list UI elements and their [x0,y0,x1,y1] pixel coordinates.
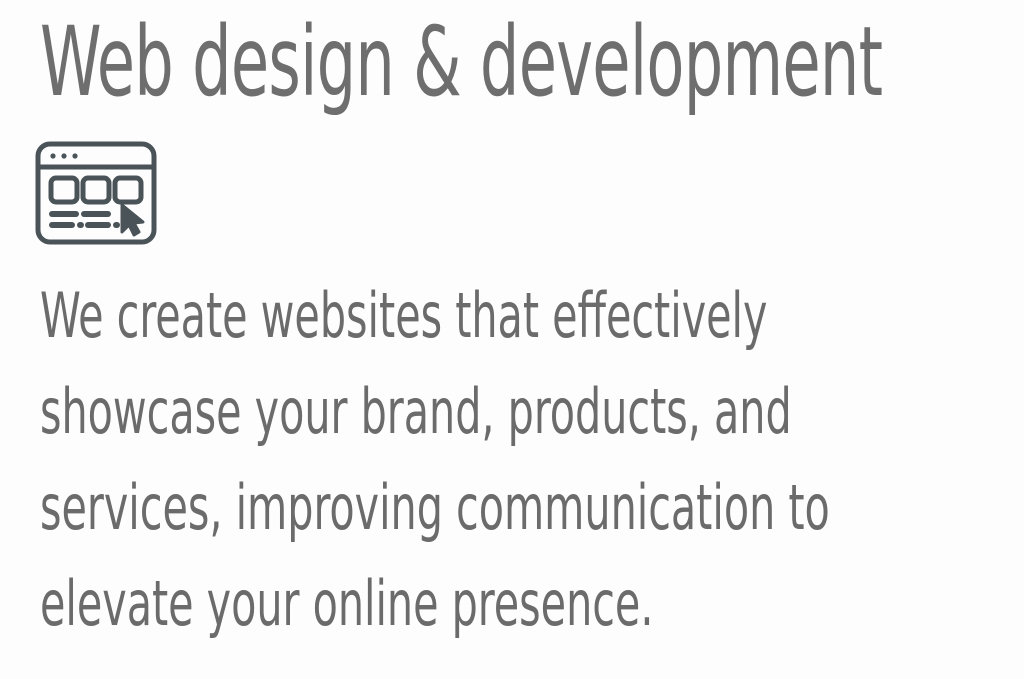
page-title: Web design & development [40,6,882,118]
description-line: elevate your online presence. [40,556,750,652]
browser-window-icon [34,140,158,246]
description-line: We create websites that effectively [40,268,750,364]
description-line: services, improving communication to [40,460,750,556]
card-description: We create websites that effectively show… [40,268,1000,652]
service-card: Web design & development [0,0,1024,679]
description-line: showcase your brand, products, and [40,364,750,460]
